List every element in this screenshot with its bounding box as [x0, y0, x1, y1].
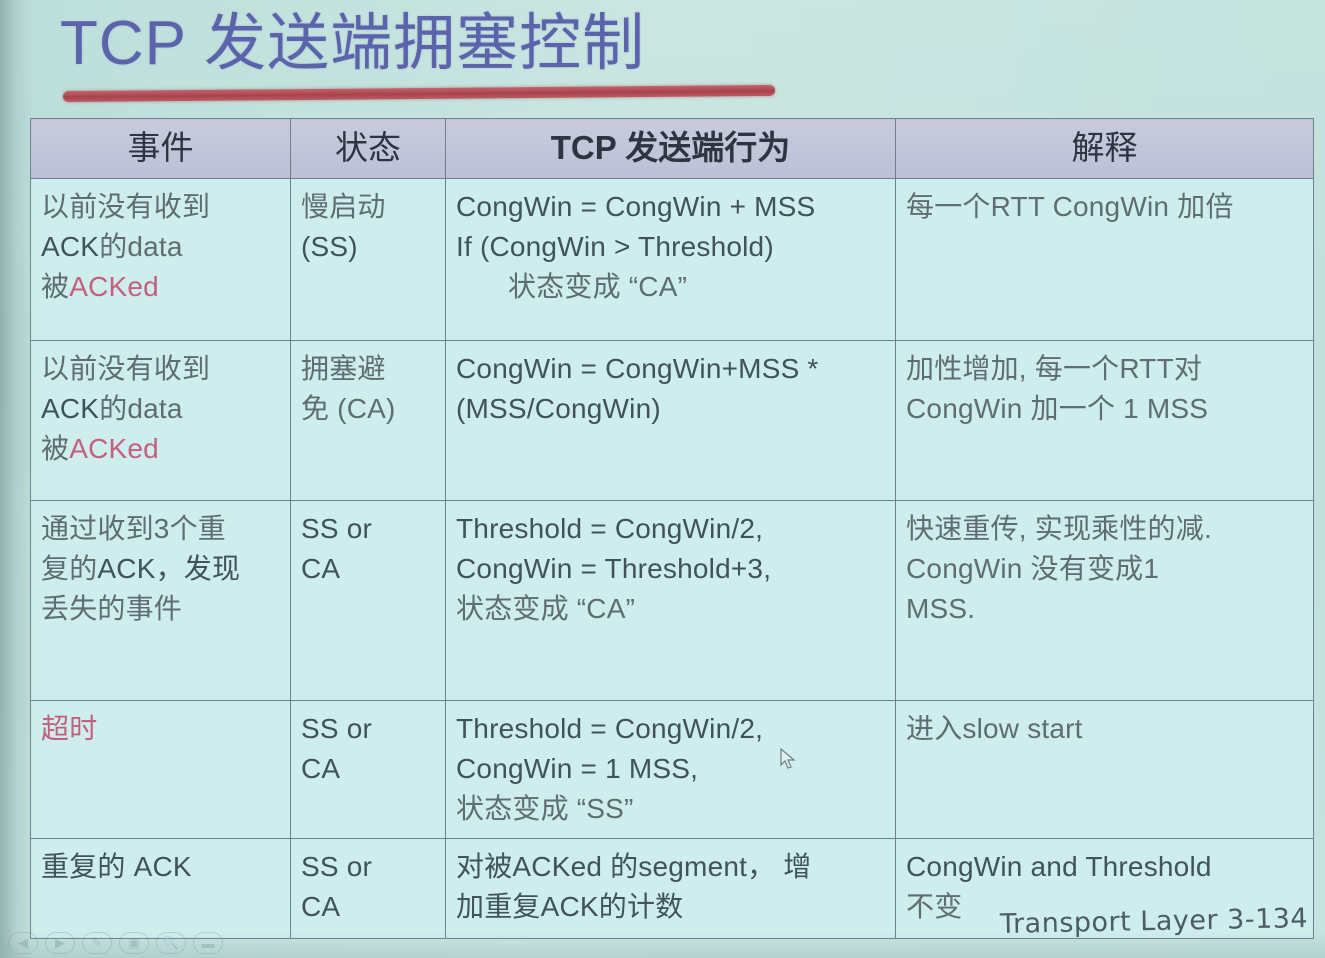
explanation-line: CongWin and Threshold — [906, 847, 1303, 887]
action-line: CongWin = CongWin + MSS — [456, 187, 885, 227]
explanation-line: 加性增加, 每一个RTT对 — [906, 349, 1303, 389]
event-line: ACK的data — [41, 389, 280, 429]
state-line: (SS) — [301, 227, 435, 267]
event-text-rest: ACK，发现 — [97, 553, 240, 584]
table-row: 通过收到3个重 复的ACK，发现 丢失的事件 SS or CA Threshol… — [31, 501, 1314, 701]
menu-button[interactable]: ▬ — [193, 932, 223, 954]
cell-state: SS or CA — [291, 501, 446, 701]
column-header-tcp-sender-action: TCP 发送端行为 — [446, 119, 896, 179]
action-line: If (CongWin > Threshold) — [456, 227, 885, 267]
table-row: 以前没有收到 ACK的data 被ACKed 拥塞避 免 (CA) CongWi… — [31, 341, 1314, 501]
cell-state: 拥塞避 免 (CA) — [291, 341, 446, 501]
event-line: 重复的 ACK — [41, 847, 280, 887]
cell-action: CongWin = CongWin + MSS If (CongWin > Th… — [446, 179, 896, 341]
event-line: 丢失的事件 — [41, 589, 280, 629]
cell-event: 超时 — [31, 701, 291, 839]
event-line: 超时 — [41, 709, 280, 749]
cell-event: 重复的 ACK — [31, 839, 291, 939]
pen-button[interactable]: ✎ — [82, 932, 112, 954]
event-line: 被ACKed — [41, 429, 280, 469]
presentation-toolbar[interactable]: ◀ ▶ ✎ ▣ 🔍 ▬ — [8, 932, 223, 954]
event-line: 被ACKed — [41, 267, 280, 307]
event-line: ACK的data — [41, 227, 280, 267]
state-line: 慢启动 — [301, 187, 435, 227]
event-text-rest: 的data — [99, 393, 183, 424]
action-line: 状态变成 “CA” — [456, 589, 885, 629]
state-line: 免 (CA) — [301, 389, 435, 429]
event-text-plain: 丢失的事件 — [41, 593, 182, 624]
screen-button[interactable]: ▣ — [119, 932, 149, 954]
state-line: 拥塞避 — [301, 349, 435, 389]
action-line: 对被ACKed 的segment， 增 — [456, 847, 885, 887]
explanation-line: MSS. — [906, 589, 1303, 629]
action-line: 状态变成 “CA” — [456, 267, 687, 307]
action-line: Threshold = CongWin/2, — [456, 509, 885, 549]
action-line: CongWin = CongWin+MSS * — [456, 349, 885, 389]
state-line: SS or — [301, 847, 435, 887]
cell-explanation: 快速重传, 实现乘性的减. CongWin 没有变成1 MSS. — [896, 501, 1314, 701]
next-slide-button[interactable]: ▶ — [45, 932, 75, 954]
slide-title-area: TCP 发送端拥塞控制 — [60, 2, 880, 110]
action-line: 状态变成 “SS” — [456, 789, 885, 829]
cell-explanation: 加性增加, 每一个RTT对 CongWin 加一个 1 MSS — [896, 341, 1314, 501]
state-line: SS or — [301, 709, 435, 749]
zoom-button[interactable]: 🔍 — [156, 932, 186, 954]
title-underline-stroke — [63, 85, 775, 102]
table-row: 以前没有收到 ACK的data 被ACKed 慢启动 (SS) CongWin … — [31, 179, 1314, 341]
action-line: 加重复ACK的计数 — [456, 887, 885, 927]
action-line: CongWin = 1 MSS, — [456, 749, 885, 789]
previous-slide-button[interactable]: ◀ — [8, 932, 38, 954]
event-text-rest: 的data — [99, 231, 183, 262]
event-line: 通过收到3个重 — [41, 509, 280, 549]
cell-state: SS or CA — [291, 839, 446, 939]
slide-footer-credit: Transport Layer 3-134 — [1000, 902, 1309, 942]
cell-state: 慢启动 (SS) — [291, 179, 446, 341]
cell-action: CongWin = CongWin+MSS * (MSS/CongWin) — [446, 341, 896, 501]
event-line: 复的ACK，发现 — [41, 549, 280, 589]
cell-action: Threshold = CongWin/2, CongWin = 1 MSS, … — [446, 701, 896, 839]
cell-explanation: 每一个RTT CongWin 加倍 — [896, 179, 1314, 341]
cell-event: 以前没有收到 ACK的data 被ACKed — [31, 179, 291, 341]
page-title: TCP 发送端拥塞控制 — [60, 2, 880, 86]
explanation-line: CongWin 加一个 1 MSS — [906, 389, 1303, 429]
state-line: CA — [301, 749, 435, 789]
column-header-event: 事件 — [31, 119, 291, 179]
explanation-line: 快速重传, 实现乘性的减. — [906, 509, 1303, 549]
column-header-explanation: 解释 — [896, 119, 1314, 179]
event-line: 以前没有收到 — [41, 349, 280, 389]
event-text-highlight: ACKed — [69, 433, 159, 464]
explanation-line: CongWin 没有变成1 — [906, 549, 1303, 589]
event-text-plain: 被 — [41, 271, 69, 302]
explanation-line: 每一个RTT CongWin 加倍 — [906, 187, 1303, 227]
event-text-plain: 被 — [41, 433, 69, 464]
cell-event: 以前没有收到 ACK的data 被ACKed — [31, 341, 291, 501]
state-line: SS or — [301, 509, 435, 549]
event-text-plain: ACK — [41, 231, 99, 262]
cell-event: 通过收到3个重 复的ACK，发现 丢失的事件 — [31, 501, 291, 701]
state-line: CA — [301, 887, 435, 927]
state-line: CA — [301, 549, 435, 589]
action-line: CongWin = Threshold+3, — [456, 549, 885, 589]
cell-action: 对被ACKed 的segment， 增 加重复ACK的计数 — [446, 839, 896, 939]
action-line: Threshold = CongWin/2, — [456, 709, 885, 749]
event-text-highlight: ACKed — [69, 271, 159, 302]
explanation-line: 进入slow start — [906, 709, 1303, 749]
cell-explanation: 进入slow start — [896, 701, 1314, 839]
cell-state: SS or CA — [291, 701, 446, 839]
cell-action: Threshold = CongWin/2, CongWin = Thresho… — [446, 501, 896, 701]
congestion-control-table: 事件 状态 TCP 发送端行为 解释 以前没有收到 ACK的data 被ACKe… — [30, 118, 1314, 939]
column-header-state: 状态 — [291, 119, 446, 179]
event-text-plain: 复的 — [41, 553, 97, 584]
table-header-row: 事件 状态 TCP 发送端行为 解释 — [31, 119, 1314, 179]
action-line: (MSS/CongWin) — [456, 389, 885, 429]
event-text-plain: ACK — [41, 393, 99, 424]
event-line: 以前没有收到 — [41, 187, 280, 227]
table-row: 超时 SS or CA Threshold = CongWin/2, CongW… — [31, 701, 1314, 839]
